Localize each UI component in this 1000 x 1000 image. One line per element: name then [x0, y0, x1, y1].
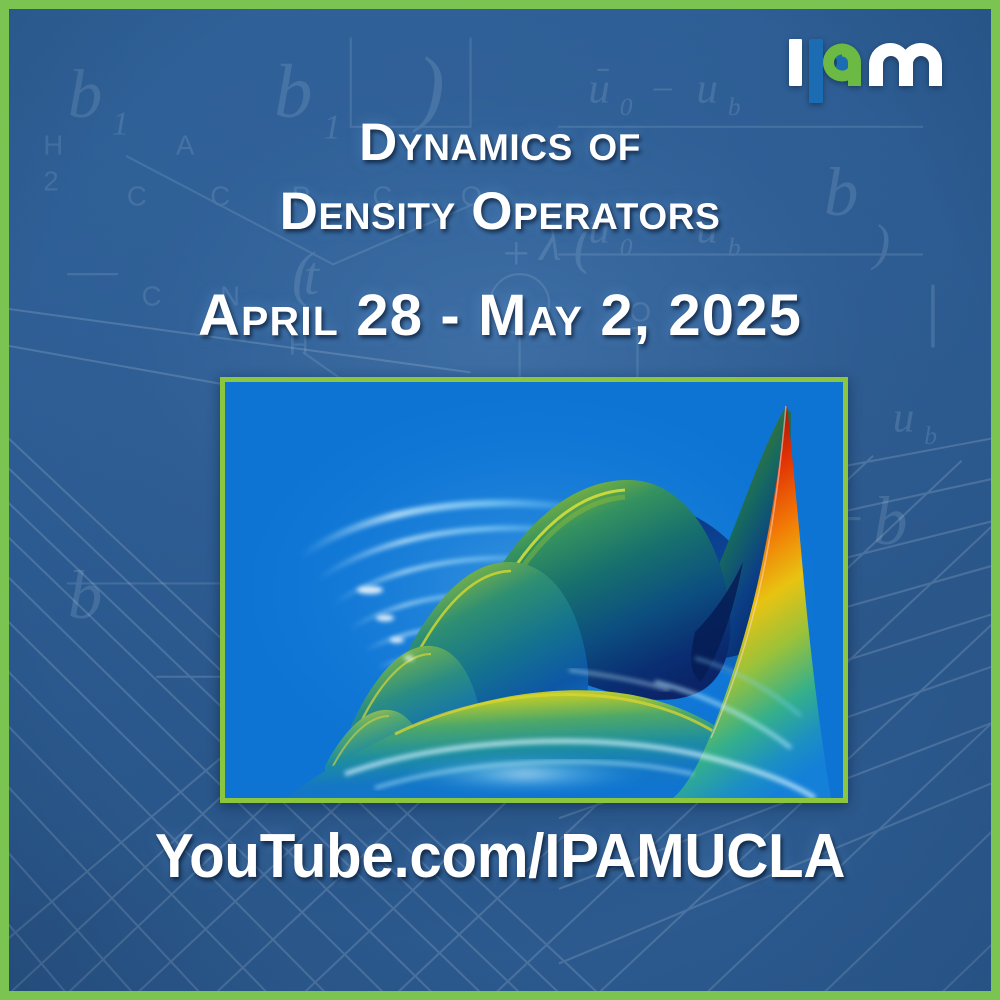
svg-text:b: b	[924, 421, 937, 450]
title-line-1: Dynamics of	[9, 109, 991, 178]
conference-poster: b 1 b 1 ) b b 2 ) ( t ψ (t) H 2 A C C P	[0, 0, 1000, 1000]
surface-plot-figure	[220, 377, 848, 803]
svg-text:−: −	[649, 68, 676, 111]
page-title: Dynamics of Density Operators	[9, 109, 991, 247]
ipam-logo[interactable]	[787, 27, 969, 103]
title-line-2: Density Operators	[9, 178, 991, 247]
svg-text:u: u	[893, 394, 915, 441]
svg-text:b: b	[873, 483, 907, 559]
svg-text:u: u	[588, 65, 610, 112]
youtube-link[interactable]: YouTube.com/IPAMUCLA	[38, 821, 961, 892]
logo-letter-i	[789, 39, 802, 86]
event-dates: April 28 - May 2, 2025	[9, 284, 991, 349]
svg-text:b: b	[68, 557, 102, 633]
svg-text:u: u	[696, 65, 718, 112]
surface-plot-svg	[225, 382, 843, 798]
logo-letter-m	[869, 43, 942, 86]
